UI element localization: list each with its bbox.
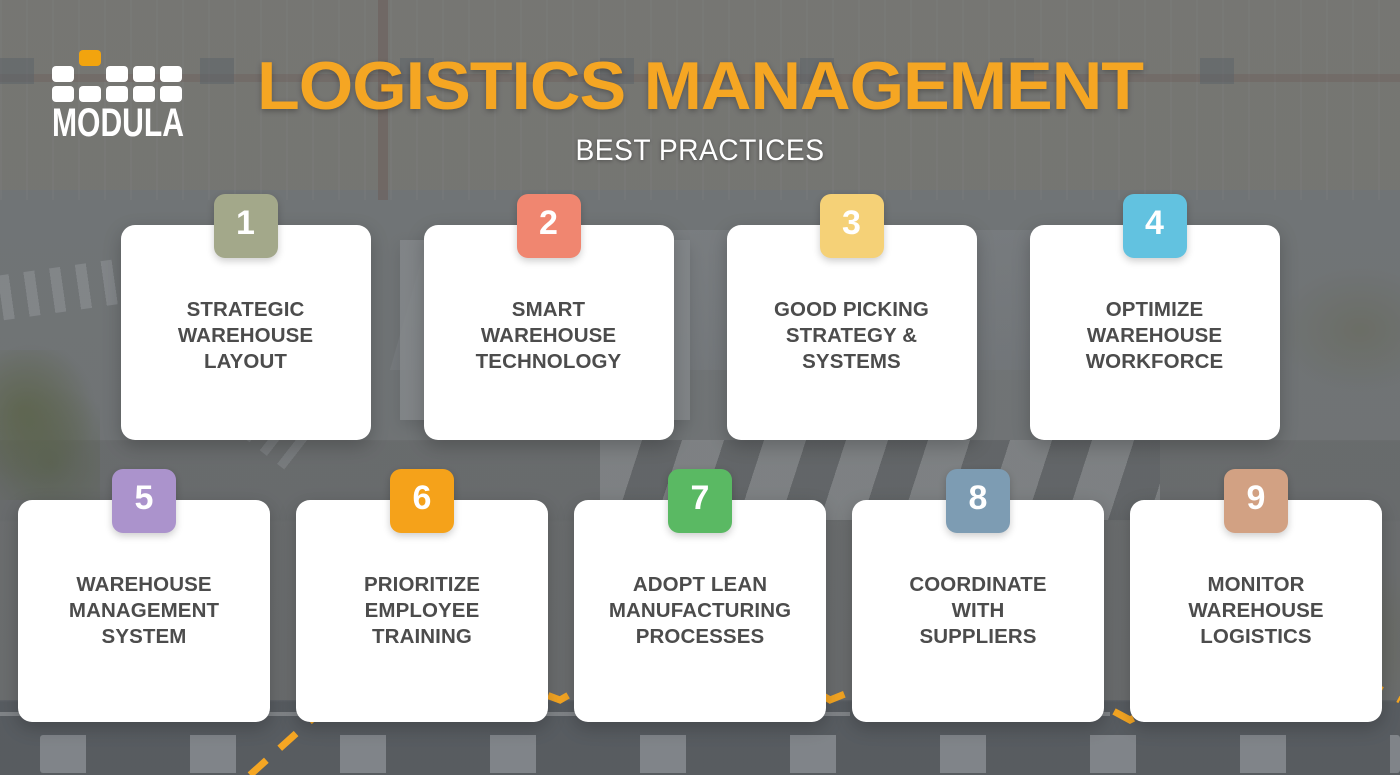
card-3[interactable]: GOOD PICKING STRATEGY & SYSTEMS3 xyxy=(727,225,977,440)
card-title-7: ADOPT LEAN MANUFACTURING PROCESSES xyxy=(597,572,803,651)
card-badge-3: 3 xyxy=(820,194,884,258)
card-badge-9: 9 xyxy=(1224,469,1288,533)
card-badge-7: 7 xyxy=(668,469,732,533)
page-title: LOGISTICS MANAGEMENT xyxy=(0,52,1400,120)
card-row-2: WAREHOUSE MANAGEMENT SYSTEM5PRIORITIZE E… xyxy=(0,500,1400,722)
card-4[interactable]: OPTIMIZE WAREHOUSE WORKFORCE4 xyxy=(1030,225,1280,440)
card-title-8: COORDINATE WITH SUPPLIERS xyxy=(897,572,1058,651)
card-body-5[interactable]: WAREHOUSE MANAGEMENT SYSTEM xyxy=(18,500,270,722)
card-badge-1: 1 xyxy=(214,194,278,258)
card-badge-6: 6 xyxy=(390,469,454,533)
card-badge-5: 5 xyxy=(112,469,176,533)
card-badge-8: 8 xyxy=(946,469,1010,533)
title-block: LOGISTICS MANAGEMENT BEST PRACTICES xyxy=(0,52,1400,168)
card-8[interactable]: COORDINATE WITH SUPPLIERS8 xyxy=(852,500,1104,722)
card-badge-4: 4 xyxy=(1123,194,1187,258)
card-title-5: WAREHOUSE MANAGEMENT SYSTEM xyxy=(57,572,231,651)
card-6[interactable]: PRIORITIZE EMPLOYEE TRAINING6 xyxy=(296,500,548,722)
card-5[interactable]: WAREHOUSE MANAGEMENT SYSTEM5 xyxy=(18,500,270,722)
card-title-4: OPTIMIZE WAREHOUSE WORKFORCE xyxy=(1074,297,1236,376)
card-2[interactable]: SMART WAREHOUSE TECHNOLOGY2 xyxy=(424,225,674,440)
card-9[interactable]: MONITOR WAREHOUSE LOGISTICS9 xyxy=(1130,500,1382,722)
card-body-6[interactable]: PRIORITIZE EMPLOYEE TRAINING xyxy=(296,500,548,722)
card-row-1: STRATEGIC WAREHOUSE LAYOUT1SMART WAREHOU… xyxy=(0,225,1400,440)
card-title-2: SMART WAREHOUSE TECHNOLOGY xyxy=(464,297,634,376)
header: MODULA LOGISTICS MANAGEMENT BEST PRACTIC… xyxy=(0,0,1400,185)
card-title-1: STRATEGIC WAREHOUSE LAYOUT xyxy=(166,297,325,376)
card-title-3: GOOD PICKING STRATEGY & SYSTEMS xyxy=(762,297,941,376)
card-1[interactable]: STRATEGIC WAREHOUSE LAYOUT1 xyxy=(121,225,371,440)
card-body-9[interactable]: MONITOR WAREHOUSE LOGISTICS xyxy=(1130,500,1382,722)
card-badge-2: 2 xyxy=(517,194,581,258)
card-title-9: MONITOR WAREHOUSE LOGISTICS xyxy=(1176,572,1335,651)
card-body-8[interactable]: COORDINATE WITH SUPPLIERS xyxy=(852,500,1104,722)
card-7[interactable]: ADOPT LEAN MANUFACTURING PROCESSES7 xyxy=(574,500,826,722)
card-title-6: PRIORITIZE EMPLOYEE TRAINING xyxy=(352,572,492,651)
card-body-7[interactable]: ADOPT LEAN MANUFACTURING PROCESSES xyxy=(574,500,826,722)
page-subtitle: BEST PRACTICES xyxy=(42,134,1358,168)
